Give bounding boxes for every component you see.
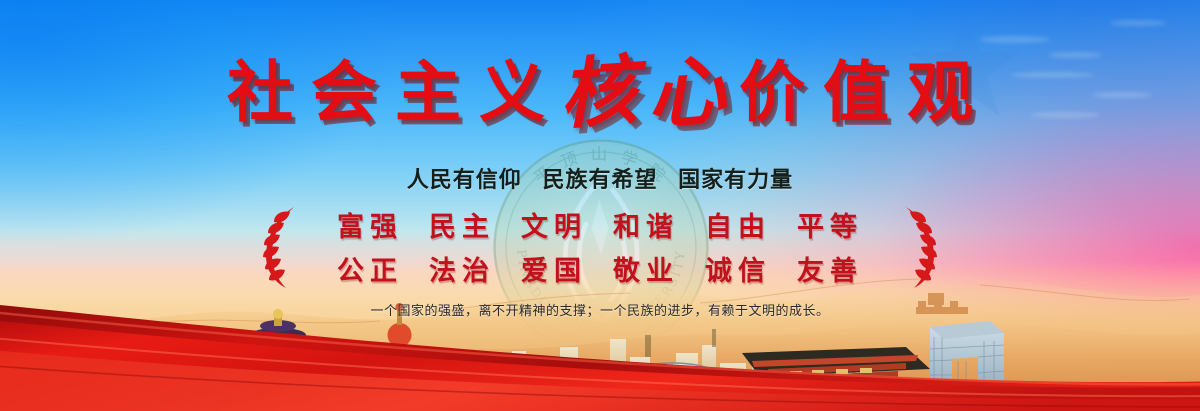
core-values-row-1: 富强 民主 文明 和谐 自由 平等 — [324, 202, 876, 246]
headline-char: 值 — [823, 60, 889, 126]
cloud-streak — [1110, 20, 1166, 26]
subtitle-part: 国家有力量 — [678, 168, 793, 193]
laurel-branch-right-icon — [890, 202, 946, 290]
core-value: 法治 — [429, 249, 495, 288]
poster-subtitle: 人民有信仰 民族有希望 国家有力量 — [0, 162, 1200, 194]
core-values-row-2: 公正 法治 爱国 敬业 诚信 友善 — [324, 246, 876, 290]
core-value: 文明 — [521, 205, 587, 244]
headline-char: 主 — [395, 60, 461, 126]
core-value: 敬业 — [613, 249, 679, 288]
core-value: 爱国 — [521, 249, 587, 288]
core-value: 平等 — [797, 205, 863, 244]
headline-char: 义 — [479, 60, 545, 126]
core-value: 诚信 — [705, 249, 771, 288]
poster-headline: 社 会 主 义 核 心 价 值 观 — [0, 52, 1200, 134]
poster-canvas: 平 顶 山 学 院 PINGDINGSHAN UNIVERSITY — [0, 0, 1200, 411]
subtitle-part: 人民有信仰 — [407, 168, 522, 193]
core-values-block: 富强 民主 文明 和谐 自由 平等 公正 法治 爱国 敬业 诚信 友善 — [0, 200, 1200, 292]
core-values-list: 富强 民主 文明 和谐 自由 平等 公正 法治 爱国 敬业 诚信 友善 — [324, 202, 876, 290]
core-value: 和谐 — [613, 205, 679, 244]
headline-char: 价 — [739, 60, 805, 126]
core-value: 富强 — [337, 205, 403, 244]
headline-char-brush: 核 — [557, 52, 640, 133]
subtitle-part: 民族有希望 — [542, 168, 657, 193]
headline-char-brush: 心 — [645, 52, 728, 133]
laurel-branch-left-icon — [254, 202, 310, 290]
headline-char: 会 — [311, 60, 377, 126]
headline-char: 社 — [227, 60, 293, 126]
core-value: 自由 — [705, 205, 771, 244]
core-value: 民主 — [429, 205, 495, 244]
core-value: 友善 — [797, 249, 863, 288]
core-value: 公正 — [337, 249, 403, 288]
poster-tagline: 一个国家的强盛，离不开精神的支撑；一个民族的进步，有赖于文明的成长。 — [0, 300, 1200, 319]
headline-char: 观 — [907, 60, 973, 126]
